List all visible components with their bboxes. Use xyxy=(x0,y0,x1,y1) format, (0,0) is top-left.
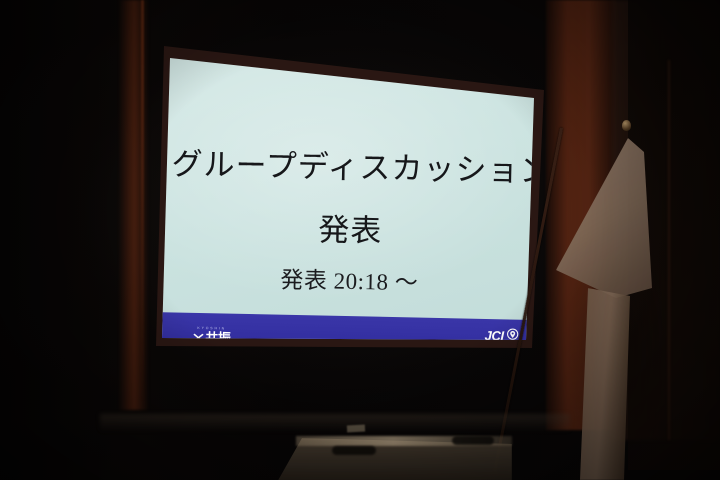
paper-slip xyxy=(347,425,365,433)
left-column-edge xyxy=(141,0,144,400)
wall-seam xyxy=(668,60,670,440)
stage-edge xyxy=(100,414,570,432)
slide-time-line: 発表 20:18 〜 xyxy=(169,258,530,299)
slide-subtitle: 発表 xyxy=(170,201,531,253)
flag-finial-icon xyxy=(622,120,631,131)
table-object-right xyxy=(452,436,494,445)
table-object-left xyxy=(332,446,376,455)
slide-title: グループディスカッション xyxy=(171,148,532,187)
conference-room-photo: グループディスカッション 発表 発表 20:18 〜 KYOSHIN ✕ 共振 … xyxy=(0,0,720,480)
